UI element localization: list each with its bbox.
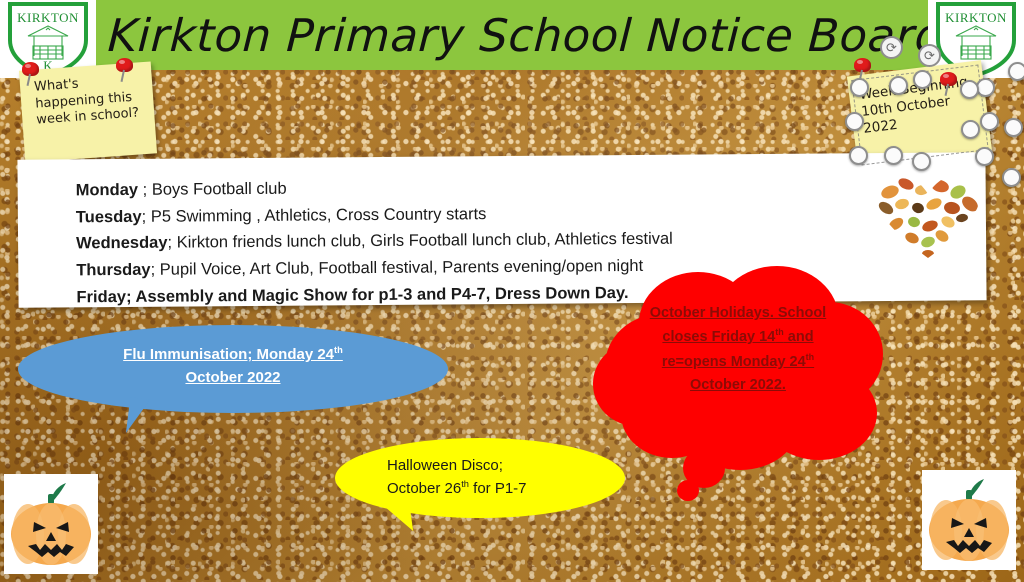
schedule-day-label: Monday <box>76 181 138 199</box>
schedule-day-label: Thursday <box>76 261 150 280</box>
resize-handle-middle-left[interactable] <box>845 112 864 131</box>
resize-handle-top-center[interactable] <box>960 80 979 99</box>
schedule-detail: Kirkton friends lunch club, Girls Footba… <box>177 230 673 252</box>
pumpkin-right-icon <box>922 470 1016 570</box>
resize-handle-top-center[interactable] <box>913 70 932 89</box>
flu-line-1-sup: th <box>334 345 343 355</box>
holidays-line-1: October Holidays. School <box>650 305 826 321</box>
page-title: Kirkton Primary School Notice Board <box>106 2 909 68</box>
schedule-detail: P5 Swimming , Athletics, Cross Country s… <box>151 205 487 226</box>
holidays-line-3-pre: re=opens Monday 24 <box>662 354 806 370</box>
holidays-line-2-pre: closes Friday 14 <box>662 329 775 345</box>
autumn-leaves-heart-icon <box>872 170 984 262</box>
resize-handle-top-left[interactable] <box>889 76 908 95</box>
halloween-line-2-post: for P1-7 <box>469 480 527 497</box>
halloween-line-1: Halloween Disco; <box>387 457 503 474</box>
push-pin-icon <box>18 62 44 88</box>
speech-bubble-halloween-disco-text: Halloween Disco; October 26th for P1-7 <box>387 454 607 501</box>
halloween-line-2-sup: th <box>461 479 469 489</box>
notice-board-canvas[interactable]: Kirkton Primary School Notice Board KIRK… <box>0 0 1024 582</box>
resize-handle-bottom-right[interactable] <box>975 147 994 166</box>
holidays-line-2-sup: th <box>775 327 783 337</box>
resize-handle-middle-right[interactable] <box>961 120 980 139</box>
schedule-day-label: Friday <box>76 288 126 306</box>
resize-handle-bottom-right[interactable] <box>1002 168 1021 187</box>
resize-handle-bottom-left[interactable] <box>849 146 868 165</box>
flu-line-2: October 2022 <box>185 369 280 386</box>
flu-line-1-pre: Flu Immunisation; Monday 24 <box>123 346 334 363</box>
speech-bubble-october-holidays-text: October Holidays. School closes Friday 1… <box>627 302 849 398</box>
schedule-detail: Assembly and Magic Show for p1-3 and P4-… <box>135 284 628 306</box>
resize-handle-bottom-center[interactable] <box>912 152 931 171</box>
svg-text:KIRKTON: KIRKTON <box>945 10 1007 25</box>
schedule-separator: ; <box>138 181 152 199</box>
speech-bubble-tail <box>369 497 413 536</box>
schedule-separator: ; <box>167 234 176 252</box>
speech-bubble-october-holidays[interactable]: October Holidays. School closes Friday 1… <box>585 262 885 477</box>
push-pin-icon <box>112 58 138 84</box>
speech-bubble-flu-immunisation[interactable]: Flu Immunisation; Monday 24th October 20… <box>18 325 448 413</box>
schedule-day-label: Wednesday <box>76 234 168 253</box>
rotate-handle[interactable]: ⟳ <box>918 44 941 67</box>
rotate-handle[interactable]: ⟳ <box>880 36 903 59</box>
holidays-line-2-post: and <box>784 329 814 345</box>
schedule-day-label: Tuesday <box>76 208 142 227</box>
holidays-line-3-sup: th <box>806 352 814 362</box>
resize-handle-top-left[interactable] <box>850 78 869 97</box>
schedule-separator: ; <box>126 288 136 306</box>
schedule-detail: Boys Football club <box>152 180 287 199</box>
speech-bubble-tail <box>126 397 162 437</box>
holidays-line-4: October 2022. <box>690 377 786 393</box>
speech-bubble-flu-immunisation-text: Flu Immunisation; Monday 24th October 20… <box>68 344 398 389</box>
schedule-separator: ; <box>142 207 151 225</box>
svg-text:KIRKTON: KIRKTON <box>17 10 79 25</box>
resize-handle-bottom-left[interactable] <box>884 146 903 165</box>
resize-handle-middle-right[interactable] <box>980 112 999 131</box>
resize-handle-top-right[interactable] <box>1008 62 1024 81</box>
pumpkin-left-icon <box>4 474 98 574</box>
schedule-detail: Pupil Voice, Art Club, Football festival… <box>160 257 644 279</box>
halloween-line-2-pre: October 26 <box>387 480 461 497</box>
resize-handle-middle-right-outer[interactable] <box>1004 118 1023 137</box>
speech-bubble-halloween-disco[interactable]: Halloween Disco; October 26th for P1-7 <box>335 438 625 518</box>
